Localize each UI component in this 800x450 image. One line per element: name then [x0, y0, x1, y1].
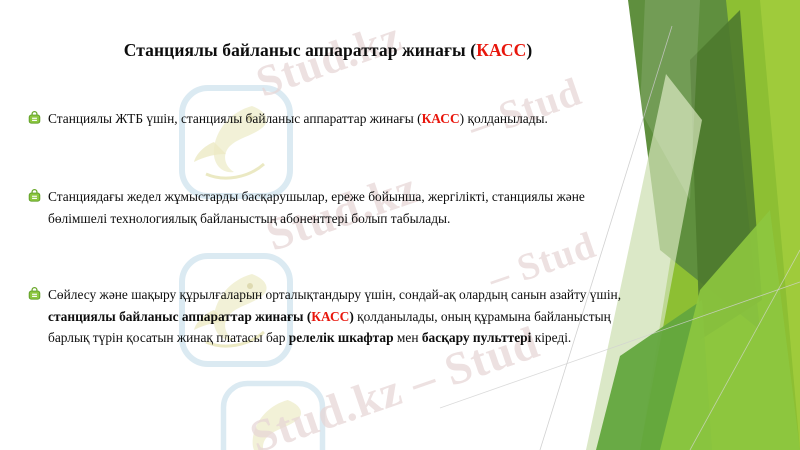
green-lock-bullet-icon — [28, 189, 41, 202]
list-item-text: Станциялы ЖТБ үшін, станциялы байланыс а… — [48, 108, 548, 130]
page-title: Станциялы байланыс аппараттар жинағы (КА… — [28, 40, 628, 61]
slide-content: Станциялы байланыс аппараттар жинағы (КА… — [0, 0, 655, 450]
slide-canvas: Stud.kz – Stud Stud.kz – Stud Stud.kz – … — [0, 0, 800, 450]
list-item-text: Сөйлесу және шақыру құрылғаларын орталық… — [48, 284, 640, 349]
list-item: Станциялы ЖТБ үшін, станциялы байланыс а… — [28, 108, 628, 130]
deco-shape-deep-overlap — [690, 10, 762, 340]
deco-shape-bright-lower — [660, 210, 800, 450]
list-item: Сөйлесу және шақыру құрылғаларын орталық… — [28, 284, 640, 349]
deco-shape-mid-tall — [640, 0, 800, 450]
green-lock-bullet-icon — [28, 287, 41, 300]
green-lock-bullet-icon — [28, 111, 41, 124]
list-item-text: Станциядағы жедел жұмыстарды басқарушыла… — [48, 186, 628, 229]
list-item: Станциядағы жедел жұмыстарды басқарушыла… — [28, 186, 628, 229]
deco-hairline-3 — [690, 250, 800, 450]
deco-shape-light-right — [672, 0, 800, 450]
